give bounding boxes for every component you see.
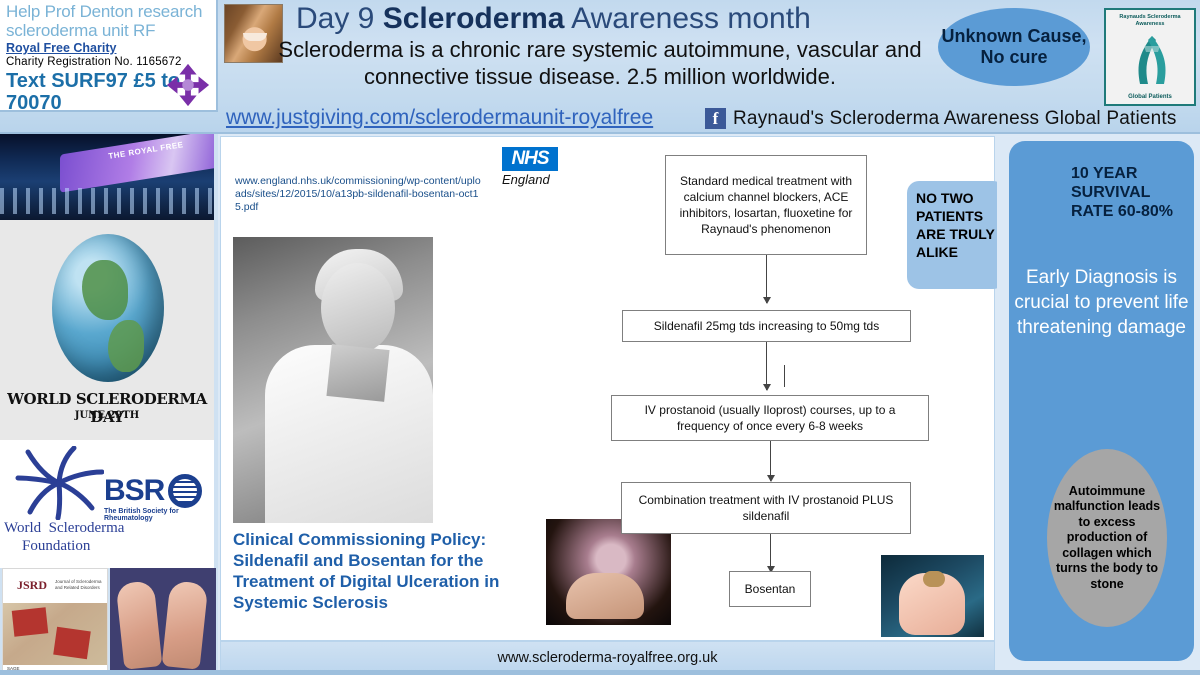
facebook-page-name: Raynaud's Scleroderma Awareness Global P… xyxy=(733,108,1177,130)
scleroderma-hands-image xyxy=(110,568,216,673)
right-info-column: 10 YEAR SURVIVAL RATE 60-80% Early Diagn… xyxy=(997,136,1200,675)
flow-node-3: IV prostanoid (usually Iloprost) courses… xyxy=(611,395,929,441)
awareness-ribbon-logo: Raynauds Scleroderma Awareness Global Pa… xyxy=(1104,8,1196,106)
page-title: Day 9 Scleroderma Awareness month xyxy=(296,2,916,36)
left-hand-shape xyxy=(116,580,163,670)
early-diagnosis-text: Early Diagnosis is crucial to prevent li… xyxy=(1009,265,1194,340)
nurse-collar xyxy=(326,344,389,402)
left-image-column: THE ROYAL FREE WORLD SCLERODERMA DAY JUN… xyxy=(0,134,218,675)
charity-box: Help Prof Denton research scleroderma un… xyxy=(0,0,218,112)
wsf-label-2: Foundation xyxy=(22,538,90,555)
jsrd-subtitle: Journal of Scleroderma and Related Disor… xyxy=(55,579,103,591)
ribbon-logo-bottom: Global Patients xyxy=(1106,94,1194,100)
poster-header: Help Prof Denton research scleroderma un… xyxy=(0,0,1200,134)
building-lights xyxy=(0,188,214,214)
nhs-logo: NHS xyxy=(502,147,558,171)
flow-node-4: Combination treatment with IV prostanoid… xyxy=(621,482,911,534)
organisation-logos: World Scleroderma Foundation BSR The Bri… xyxy=(0,440,214,568)
bsr-ring-icon xyxy=(168,474,202,508)
bottom-strip xyxy=(0,670,1200,675)
teal-ribbon-icon xyxy=(1106,28,1196,92)
world-scleroderma-foundation-icon xyxy=(14,446,104,520)
world-scleroderma-day-image: WORLD SCLERODERMA DAY JUNE 29TH xyxy=(0,220,214,440)
facebook-icon[interactable]: f xyxy=(705,108,726,129)
unknown-cause-bubble: Unknown Cause, No cure xyxy=(938,8,1090,86)
center-content-panel: NHS England www.england.nhs.uk/commissio… xyxy=(220,136,995,641)
title-bold: Scleroderma xyxy=(383,2,565,35)
royal-free-charity-link[interactable]: Royal Free Charity xyxy=(6,41,212,55)
policy-title: Clinical Commissioning Policy: Sildenafi… xyxy=(233,529,519,613)
footer-url[interactable]: www.scleroderma-royalfree.org.uk xyxy=(498,650,718,666)
jsrd-cover-art xyxy=(3,603,107,665)
title-rest: Awareness month xyxy=(571,2,811,35)
bsr-logo-text: BSR xyxy=(104,474,164,508)
flow-node-2: Sildenafil 25mg tds increasing to 50mg t… xyxy=(622,310,911,342)
right-hand-shape xyxy=(162,580,209,670)
flow-edge-3-4 xyxy=(770,441,771,481)
charity-headline: Help Prof Denton research scleroderma un… xyxy=(6,2,212,40)
nurse-portrait-photo xyxy=(233,237,433,523)
day-label: Day 9 xyxy=(296,2,374,35)
wsf-label-1: World Scleroderma xyxy=(4,520,124,537)
flow-edge-4-5 xyxy=(770,534,771,572)
four-way-arrows-icon xyxy=(165,62,211,108)
ribbon-logo-top: Raynauds Scleroderma Awareness xyxy=(1106,14,1194,28)
flow-edge-2-3 xyxy=(766,342,767,390)
flow-node-5: Bosentan xyxy=(729,571,811,607)
header-subtitle: Scleroderma is a chronic rare systemic a… xyxy=(250,36,950,90)
globe-icon xyxy=(52,234,164,382)
right-blue-panel: 10 YEAR SURVIVAL RATE 60-80% Early Diagn… xyxy=(1009,141,1194,661)
bsr-subtitle: The British Society for Rheumatology xyxy=(104,508,214,522)
canopy-shape xyxy=(60,134,214,193)
autoimmune-oval: Autoimmune malfunction leads to excess p… xyxy=(1047,449,1167,627)
royal-free-building-image: THE ROYAL FREE xyxy=(0,134,214,220)
no-two-patients-callout: NO TWO PATIENTS ARE TRULY ALIKE xyxy=(907,181,1005,289)
flow-node-1: Standard medical treatment with calcium … xyxy=(665,155,867,255)
fingertip-ulcer-photo xyxy=(881,555,984,637)
jsrd-journal-cover: JSRD Journal of Scleroderma and Related … xyxy=(2,568,108,673)
poster-canvas: Help Prof Denton research scleroderma un… xyxy=(0,0,1200,675)
digital-ulcer-photo xyxy=(546,519,671,625)
flow-tick-mark xyxy=(784,365,785,387)
nhs-policy-link[interactable]: www.england.nhs.uk/commissioning/wp-cont… xyxy=(235,175,485,214)
nhs-england-label: England xyxy=(502,172,550,187)
world-day-subtitle: JUNE 29TH xyxy=(0,410,214,421)
flow-edge-1-2 xyxy=(766,255,767,303)
nurse-face xyxy=(321,263,395,353)
justgiving-link[interactable]: www.justgiving.com/sclerodermaunit-royal… xyxy=(226,106,653,130)
survival-rate-text: 10 YEAR SURVIVAL RATE 60-80% xyxy=(1071,164,1194,221)
